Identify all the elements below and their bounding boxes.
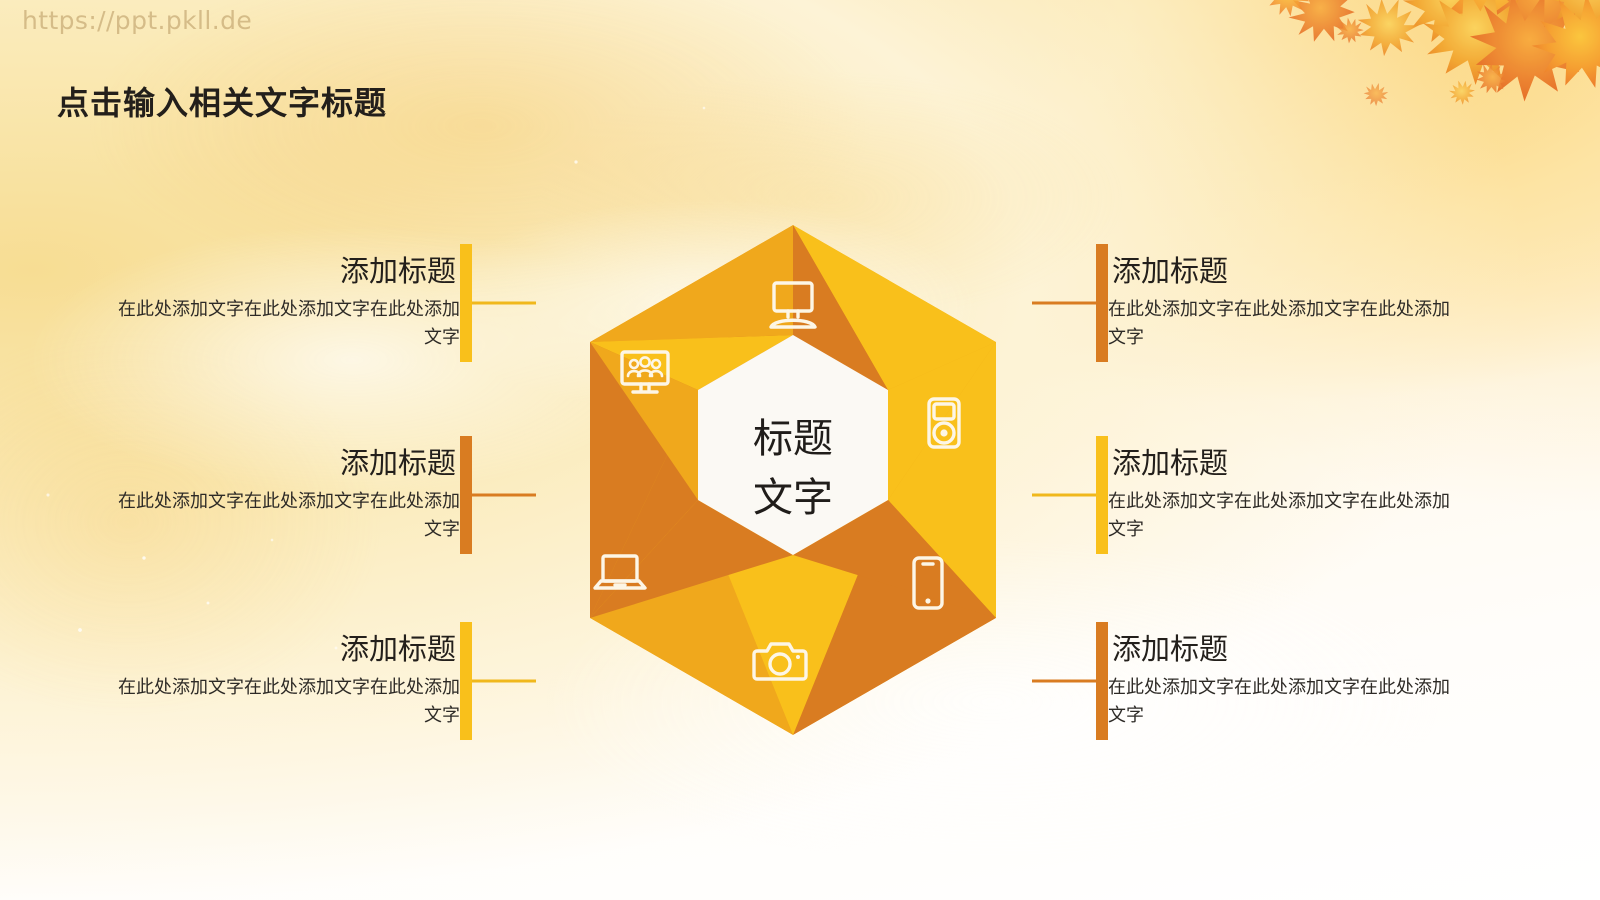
callout-right-2-text: 添加标题 在此处添加文字在此处添加文字在此处添加文字 [1108, 436, 1460, 554]
connector-rule [1032, 494, 1100, 497]
connector-rule [468, 494, 536, 497]
callout-left-2-body: 在此处添加文字在此处添加文字在此处添加文字 [108, 488, 460, 543]
hexagon-pinwheel-diagram: 标题 文字 [548, 215, 1038, 745]
callout-left-3-title: 添加标题 [108, 633, 460, 667]
maple-leaves-decoration [1190, 0, 1600, 182]
callout-right-1-text: 添加标题 在此处添加文字在此处添加文字在此处添加文字 [1108, 244, 1460, 362]
center-line-2: 文字 [753, 476, 833, 520]
callout-right-3-title: 添加标题 [1108, 633, 1460, 667]
connector-rule [468, 302, 536, 305]
callout-right-2[interactable]: 添加标题 在此处添加文字在此处添加文字在此处添加文字 [1032, 436, 1460, 554]
callout-right-3-connector [1032, 622, 1108, 740]
callout-right-2-body: 在此处添加文字在此处添加文字在此处添加文字 [1108, 488, 1460, 543]
blade-top-left [590, 225, 793, 342]
connector-rule [468, 680, 536, 683]
page-title: 点击输入相关文字标题 [57, 78, 387, 124]
callout-left-1-body: 在此处添加文字在此处添加文字在此处添加文字 [108, 296, 460, 351]
callout-left-3[interactable]: 添加标题 在此处添加文字在此处添加文字在此处添加文字 [108, 622, 536, 740]
connector-rule [1032, 680, 1100, 683]
callout-left-2-text: 添加标题 在此处添加文字在此处添加文字在此处添加文字 [108, 436, 460, 554]
callout-left-3-connector [460, 622, 536, 740]
callout-right-3[interactable]: 添加标题 在此处添加文字在此处添加文字在此处添加文字 [1032, 622, 1460, 740]
callout-right-2-title: 添加标题 [1108, 447, 1460, 481]
connector-bar [1096, 244, 1108, 362]
callout-left-1[interactable]: 添加标题 在此处添加文字在此处添加文字在此处添加文字 [108, 244, 536, 362]
callout-left-2-connector [460, 436, 536, 554]
connector-bar [460, 244, 472, 362]
center-line-1: 标题 [753, 417, 833, 461]
callout-right-1-connector [1032, 244, 1108, 362]
callout-left-1-title: 添加标题 [108, 255, 460, 289]
callout-left-2[interactable]: 添加标题 在此处添加文字在此处添加文字在此处添加文字 [108, 436, 536, 554]
connector-bar [460, 622, 472, 740]
callout-left-2-title: 添加标题 [108, 447, 460, 481]
site-watermark: https://ppt.pkll.de [22, 6, 252, 35]
callout-left-3-body: 在此处添加文字在此处添加文字在此处添加文字 [108, 674, 460, 729]
connector-rule [1032, 302, 1100, 305]
connector-bar [1096, 622, 1108, 740]
callout-left-1-connector [460, 244, 536, 362]
callout-right-1[interactable]: 添加标题 在此处添加文字在此处添加文字在此处添加文字 [1032, 244, 1460, 362]
callout-right-1-title: 添加标题 [1108, 255, 1460, 289]
callout-right-2-connector [1032, 436, 1108, 554]
callout-right-3-text: 添加标题 在此处添加文字在此处添加文字在此处添加文字 [1108, 622, 1460, 740]
callout-right-1-body: 在此处添加文字在此处添加文字在此处添加文字 [1108, 296, 1460, 351]
slide-canvas: https://ppt.pkll.de 点击输入相关文字标题 [0, 0, 1600, 900]
callout-left-3-text: 添加标题 在此处添加文字在此处添加文字在此处添加文字 [108, 622, 460, 740]
callout-left-1-text: 添加标题 在此处添加文字在此处添加文字在此处添加文字 [108, 244, 460, 362]
connector-bar [1096, 436, 1108, 554]
callout-right-3-body: 在此处添加文字在此处添加文字在此处添加文字 [1108, 674, 1460, 729]
connector-bar [460, 436, 472, 554]
